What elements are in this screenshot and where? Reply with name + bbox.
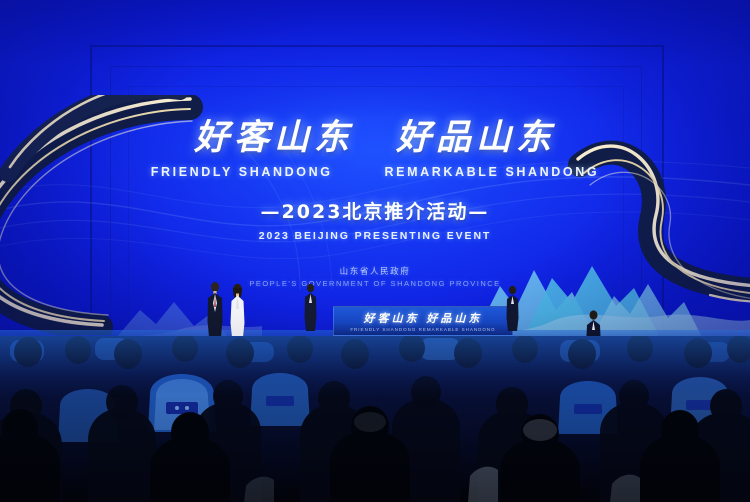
podium-led-panel: 好客山东 好品山东 FRIENDLY SHANDONG REMARKABLE S…: [333, 306, 513, 336]
audience-area: [0, 336, 750, 502]
event-line-chinese: —2023北京推介活动—: [0, 197, 750, 224]
audience-light-haze: [0, 336, 750, 396]
event-stage-photo: 好客山东 好品山东 FRIENDLY SHANDONG REMARKABLE S…: [0, 0, 750, 502]
stage-person-host-male: [205, 281, 225, 337]
slogan-right-chinese: 好品山东: [396, 118, 556, 158]
stage-person-attendee-right: [505, 285, 520, 331]
slogan-left-chinese: 好客山东: [194, 118, 354, 158]
stage-person-attendee-left: [303, 283, 318, 331]
podium-slogan-chinese: 好客山东 好品山东: [364, 310, 483, 326]
organizer-english: PEOPLE'S GOVERNMENT OF SHANDONG PROVINCE: [0, 279, 750, 288]
slogan-left-english: FRIENDLY SHANDONG: [151, 165, 333, 179]
backdrop-title-block: 好客山东 好品山东 FRIENDLY SHANDONG REMARKABLE S…: [0, 118, 750, 242]
slogan-right-english: REMARKABLE SHANDONG: [385, 165, 600, 179]
event-line-english: 2023 BEIJING PRESENTING EVENT: [0, 230, 750, 242]
podium-slogan-english: FRIENDLY SHANDONG REMARKABLE SHANDONG: [350, 327, 495, 332]
slogan-row-chinese: 好客山东 好品山东: [0, 118, 750, 158]
organizer-chinese: 山东省人民政府: [0, 265, 750, 277]
stage-person-host-female: [228, 283, 247, 337]
slogan-row-english: FRIENDLY SHANDONG REMARKABLE SHANDONG: [0, 165, 750, 179]
